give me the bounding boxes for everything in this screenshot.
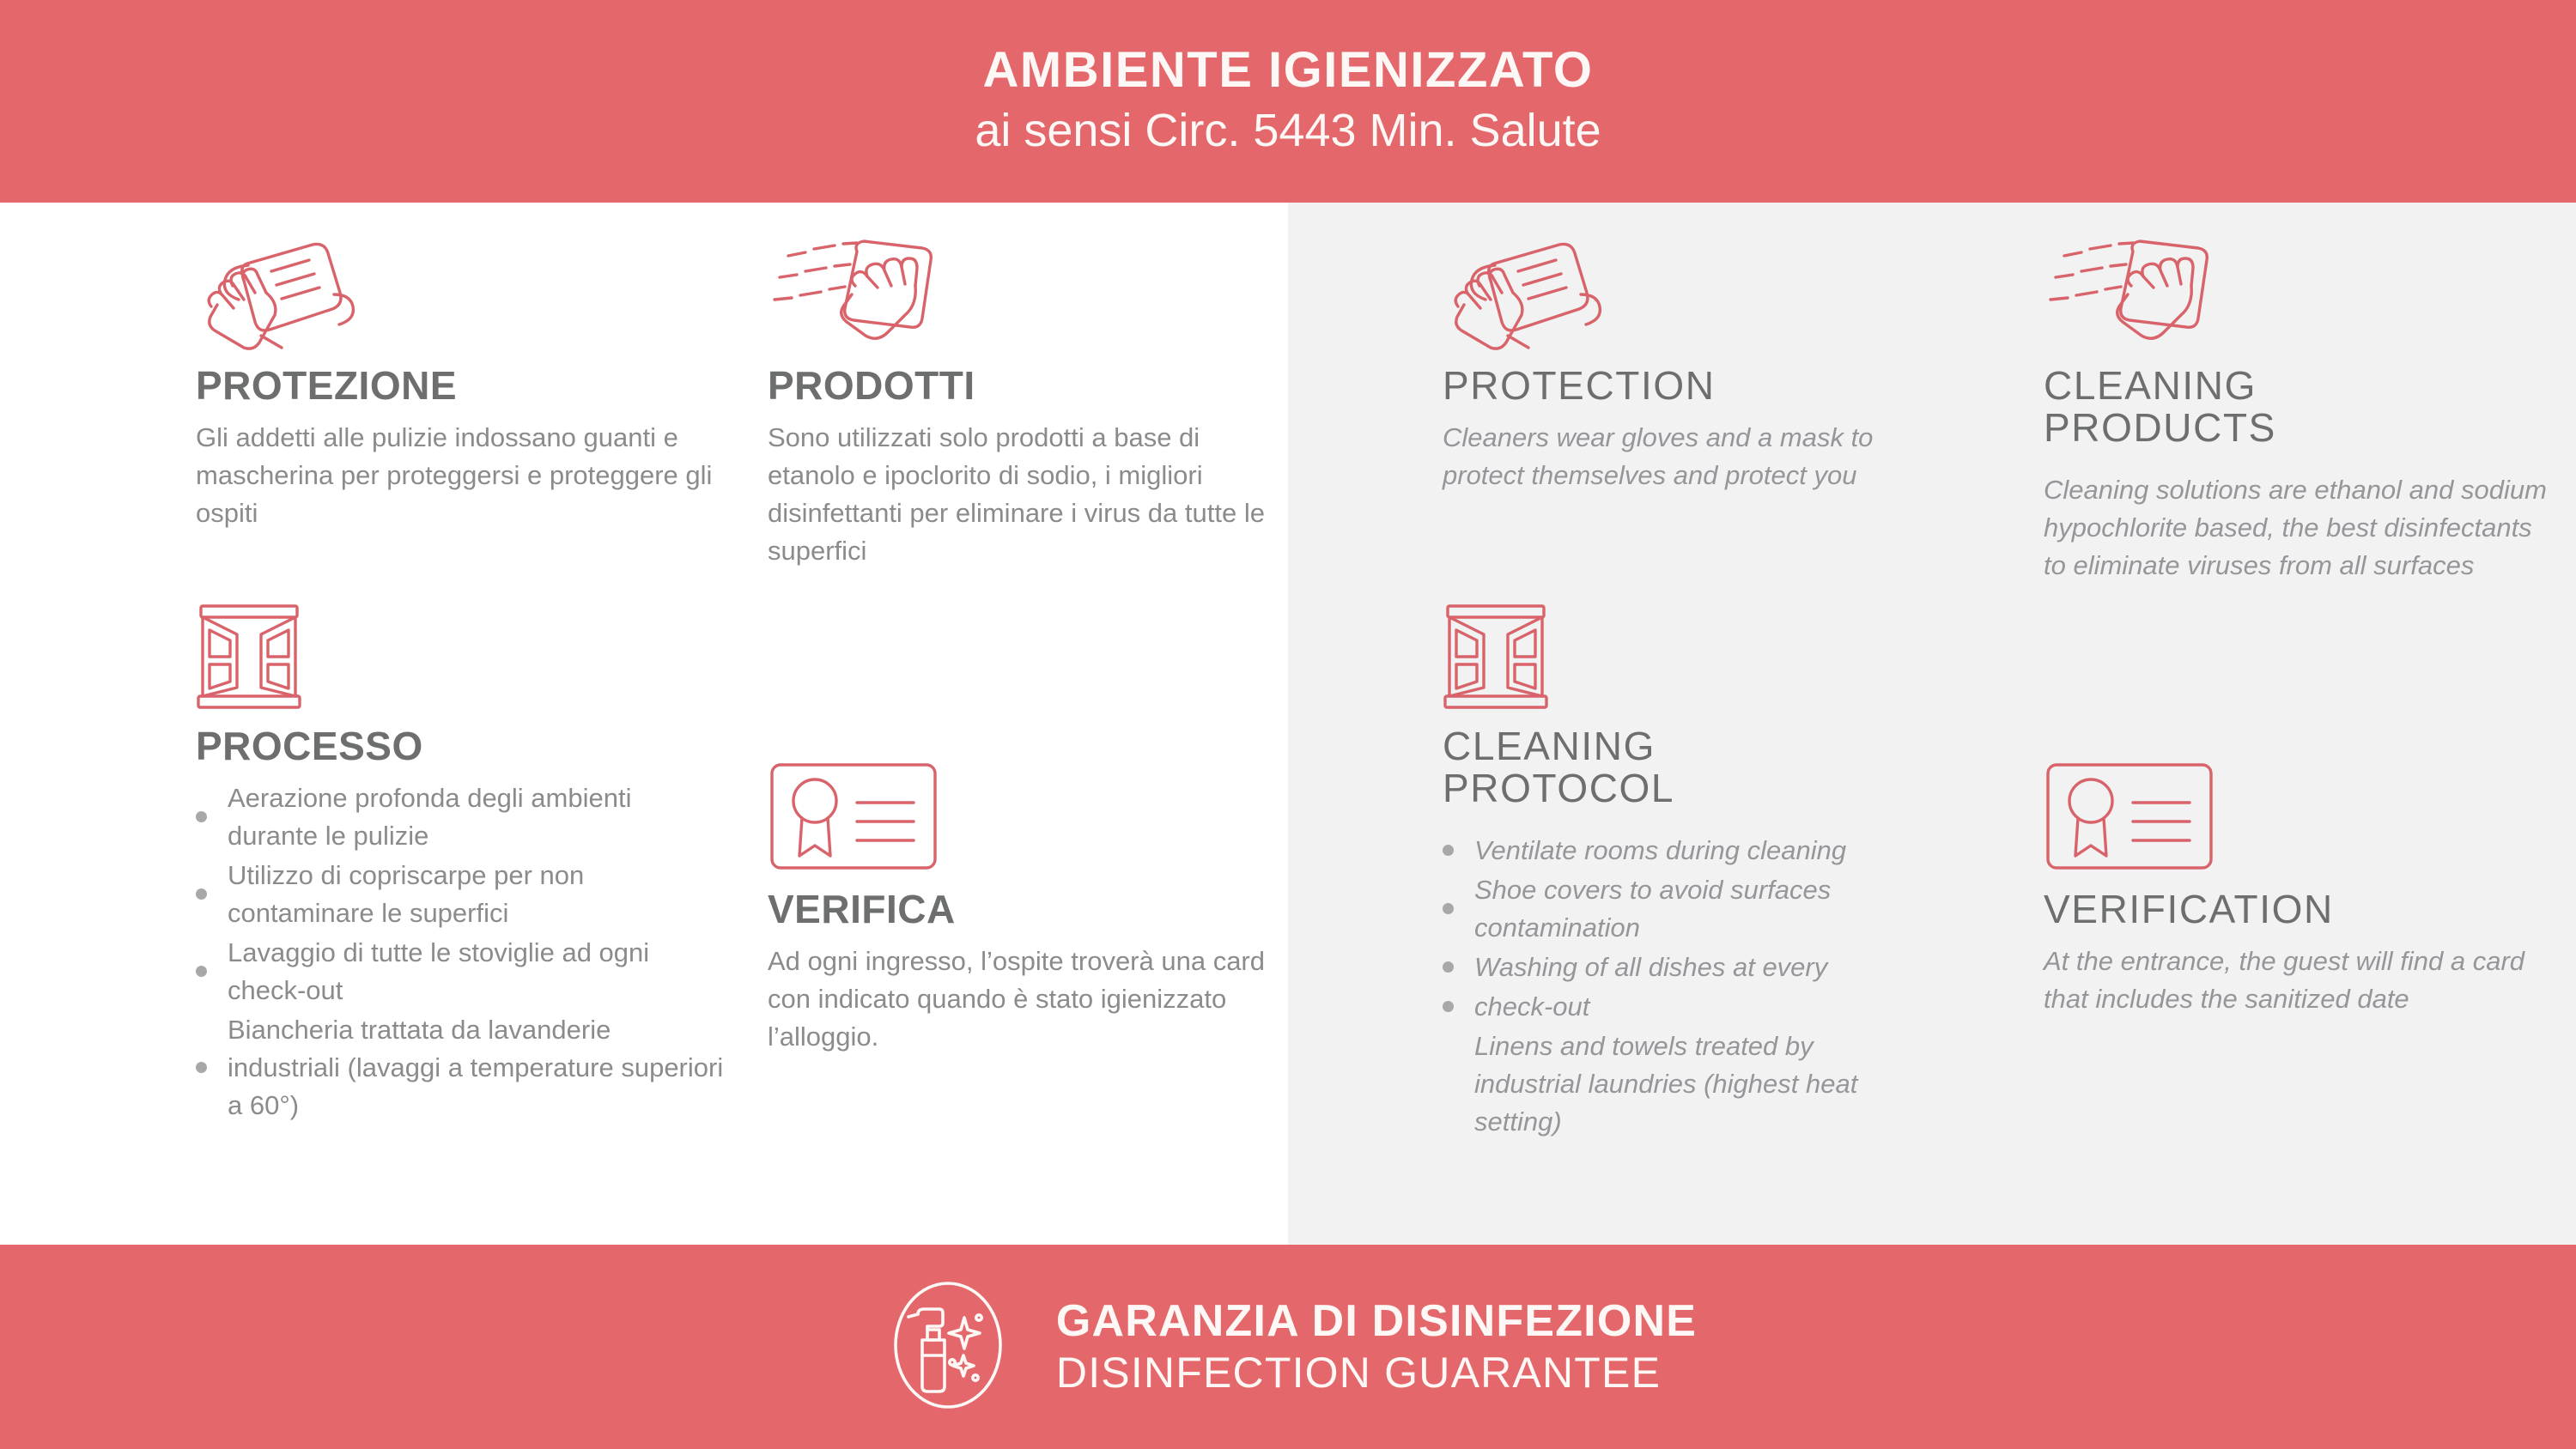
hand-wiping-cloth-icon [768,233,1283,353]
section-title: VERIFICATION [2044,888,2559,931]
section-body: Ad ogni ingresso, l’ospite troverà una c… [768,943,1283,1056]
panel-english: PROTECTION Cleaners wear gloves and a ma… [1288,203,2576,1245]
section-body: Cleaning solutions are ethanol and sodiu… [2044,471,2559,585]
bullet-text: Shoe covers to avoid surfaces contaminat… [1474,871,1923,947]
bullet-text: Linens and towels treated by industrial … [1474,1028,1923,1141]
bullet-text: Ventilate rooms during cleaning [1474,832,1923,870]
section-verification: VERIFICATION At the entrance, the guest … [2044,756,2559,1018]
bullet-dot-icon [196,1062,207,1073]
section-cleaning-products: CLEANING PRODUCTS Cleaning solutions are… [2044,233,2559,585]
infographic-page: AMBIENTE IGIENIZZATO ai sensi Circ. 5443… [0,0,2576,1449]
content-area: PROTEZIONE Gli addetti alle pulizie indo… [0,203,2576,1245]
footer-content: GARANZIA DI DISINFEZIONE DISINFECTION GU… [879,1276,1697,1418]
footer-banner: GARANZIA DI DISINFEZIONE DISINFECTION GU… [0,1245,2576,1449]
footer-title: GARANZIA DI DISINFEZIONE [1056,1295,1697,1348]
section-title-line2: PROTOCOL [1443,767,1923,809]
section-title: CLEANING PRODUCTS [2044,365,2559,449]
bullet-dot-icon [196,811,207,822]
bullet-text: check-out [1474,988,1923,1026]
bullet-text: Washing of all dishes at every [1474,949,1923,986]
bullet-dot-icon [1443,961,1454,973]
section-body: Sono utilizzati solo prodotti a base di … [768,419,1283,570]
section-body: At the entrance, the guest will find a c… [2044,943,2559,1018]
open-window-icon [1443,602,1923,713]
certificate-card-icon [768,756,1283,876]
section-cleaning-protocol: CLEANING PROTOCOL Ventilate rooms during… [1443,602,1923,1143]
panel-italian: PROTEZIONE Gli addetti alle pulizie indo… [0,203,1288,1245]
section-body: Cleaners wear gloves and a mask to prote… [1443,419,1923,494]
column-en-right: CLEANING PRODUCTS Cleaning solutions are… [1932,203,2576,1245]
section-title: PRODOTTI [768,365,1283,407]
bullet-dot-icon [1443,903,1454,914]
column-it-right: PRODOTTI Sono utilizzati solo prodotti a… [644,203,1288,1245]
footer-subtitle: DISINFECTION GUARANTEE [1056,1348,1697,1398]
column-en-left: PROTECTION Cleaners wear gloves and a ma… [1288,203,1932,1245]
certificate-card-icon [2044,756,2559,876]
column-it-left: PROTEZIONE Gli addetti alle pulizie indo… [0,203,644,1245]
section-title-line1: CLEANING [1443,725,1923,767]
header-banner: AMBIENTE IGIENIZZATO ai sensi Circ. 5443… [0,0,2576,203]
protocol-bullet-list: Ventilate rooms during cleaning Shoe cov… [1443,832,1923,1141]
bullet-dot-icon [1443,1078,1454,1089]
bullet-dot-icon [1443,845,1454,856]
list-item: Linens and towels treated by industrial … [1443,1028,1923,1141]
section-prodotti: PRODOTTI Sono utilizzati solo prodotti a… [768,233,1283,570]
bullet-dot-icon [196,966,207,977]
section-title-line2: PRODUCTS [2044,407,2559,449]
spray-bottle-sparkle-icon [879,1276,1017,1418]
hand-wiping-cloth-icon [2044,233,2559,353]
bullet-dot-icon [196,888,207,900]
section-title: CLEANING PROTOCOL [1443,725,1923,809]
section-title: PROTECTION [1443,365,1923,407]
section-verifica: VERIFICA Ad ogni ingresso, l’ospite trov… [768,756,1283,1056]
page-subtitle: ai sensi Circ. 5443 Min. Salute [975,104,1601,159]
section-title: VERIFICA [768,888,1283,931]
gloves-mask-icon [1443,233,1923,353]
list-item: Shoe covers to avoid surfaces contaminat… [1443,871,1923,947]
list-item: Washing of all dishes at every [1443,949,1923,986]
section-protection: PROTECTION Cleaners wear gloves and a ma… [1443,233,1923,494]
list-item: check-out [1443,988,1923,1026]
list-item: Ventilate rooms during cleaning [1443,832,1923,870]
footer-text-group: GARANZIA DI DISINFEZIONE DISINFECTION GU… [1056,1295,1697,1398]
bullet-dot-icon [1443,1001,1454,1012]
page-title: AMBIENTE IGIENIZZATO [983,44,1594,98]
section-title-line1: CLEANING [2044,365,2559,407]
